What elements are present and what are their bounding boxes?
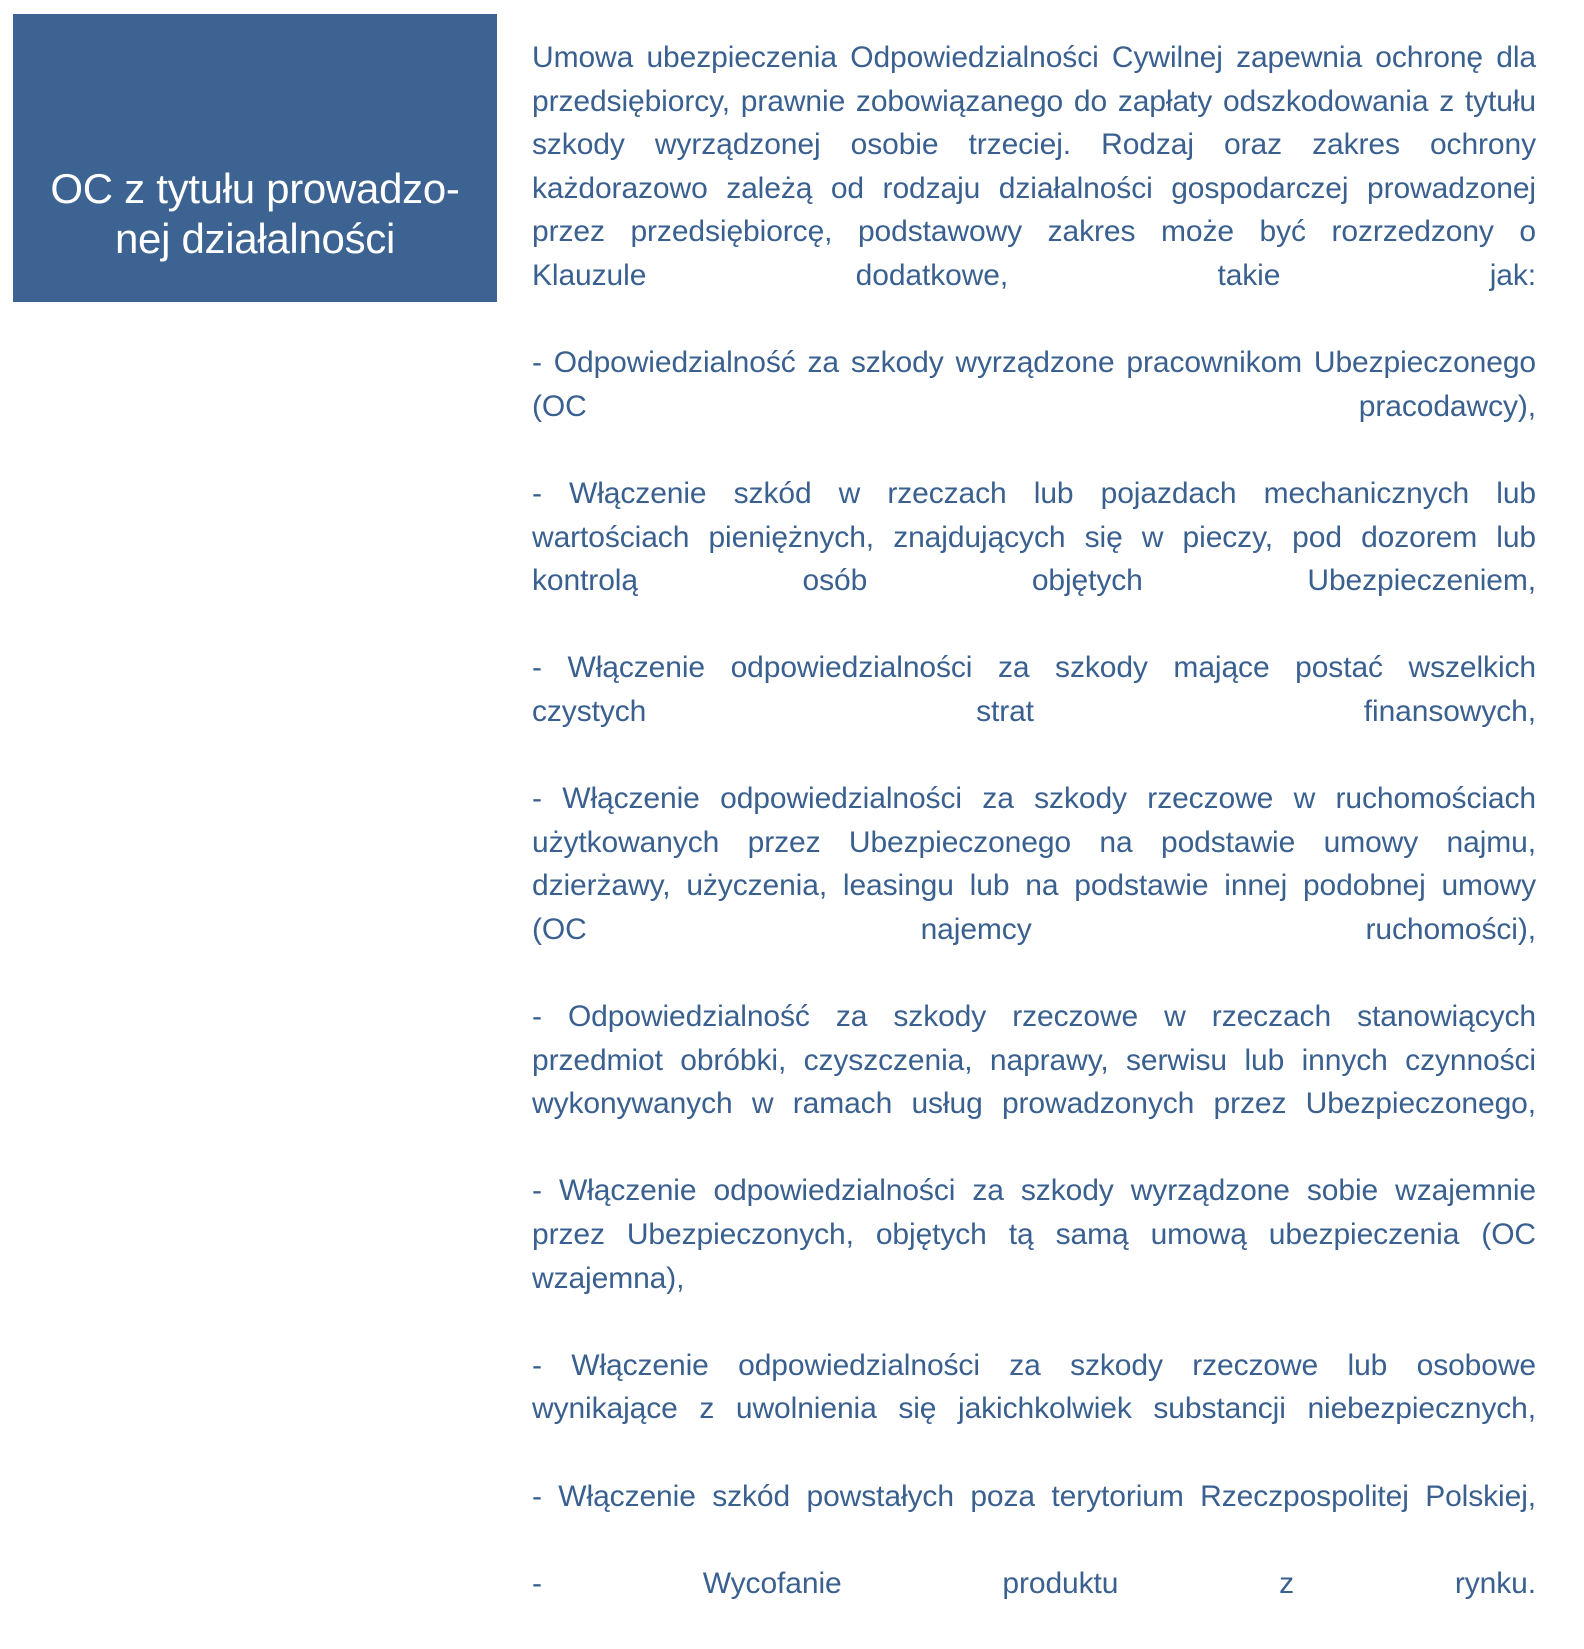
page-title: OC z tytułu prowadzo- nej działalności xyxy=(35,164,475,264)
intro-paragraph: Umowa ubezpieczenia Odpowiedzialności Cy… xyxy=(532,36,1536,341)
list-item: - Odpowiedzialność za szkody wyrządzone … xyxy=(532,341,1536,472)
body-content: Umowa ubezpieczenia Odpowiedzialności Cy… xyxy=(532,36,1536,1649)
list-item: - Włączenie odpowiedzialności za szkody … xyxy=(532,1169,1536,1343)
list-item: - Włączenie szkód w rzeczach lub pojazda… xyxy=(532,472,1536,646)
list-item: - Włączenie szkód powstałych poza teryto… xyxy=(532,1475,1536,1562)
page-root: OC z tytułu prowadzo- nej działalności U… xyxy=(0,0,1584,1338)
list-item: - Włączenie odpowiedzialności za szkody … xyxy=(532,1344,1536,1475)
clause-list: - Odpowiedzialność za szkody wyrządzone … xyxy=(532,341,1536,1649)
heading-panel: OC z tytułu prowadzo- nej działalności xyxy=(13,14,497,302)
list-item: - Odpowiedzialność za szkody rzeczowe w … xyxy=(532,995,1536,1169)
list-item: - Wycofanie produktu z rynku. xyxy=(532,1562,1536,1649)
list-item: - Włączenie odpowiedzialności za szkody … xyxy=(532,646,1536,777)
list-item: - Włączenie odpowiedzialności za szkody … xyxy=(532,777,1536,995)
